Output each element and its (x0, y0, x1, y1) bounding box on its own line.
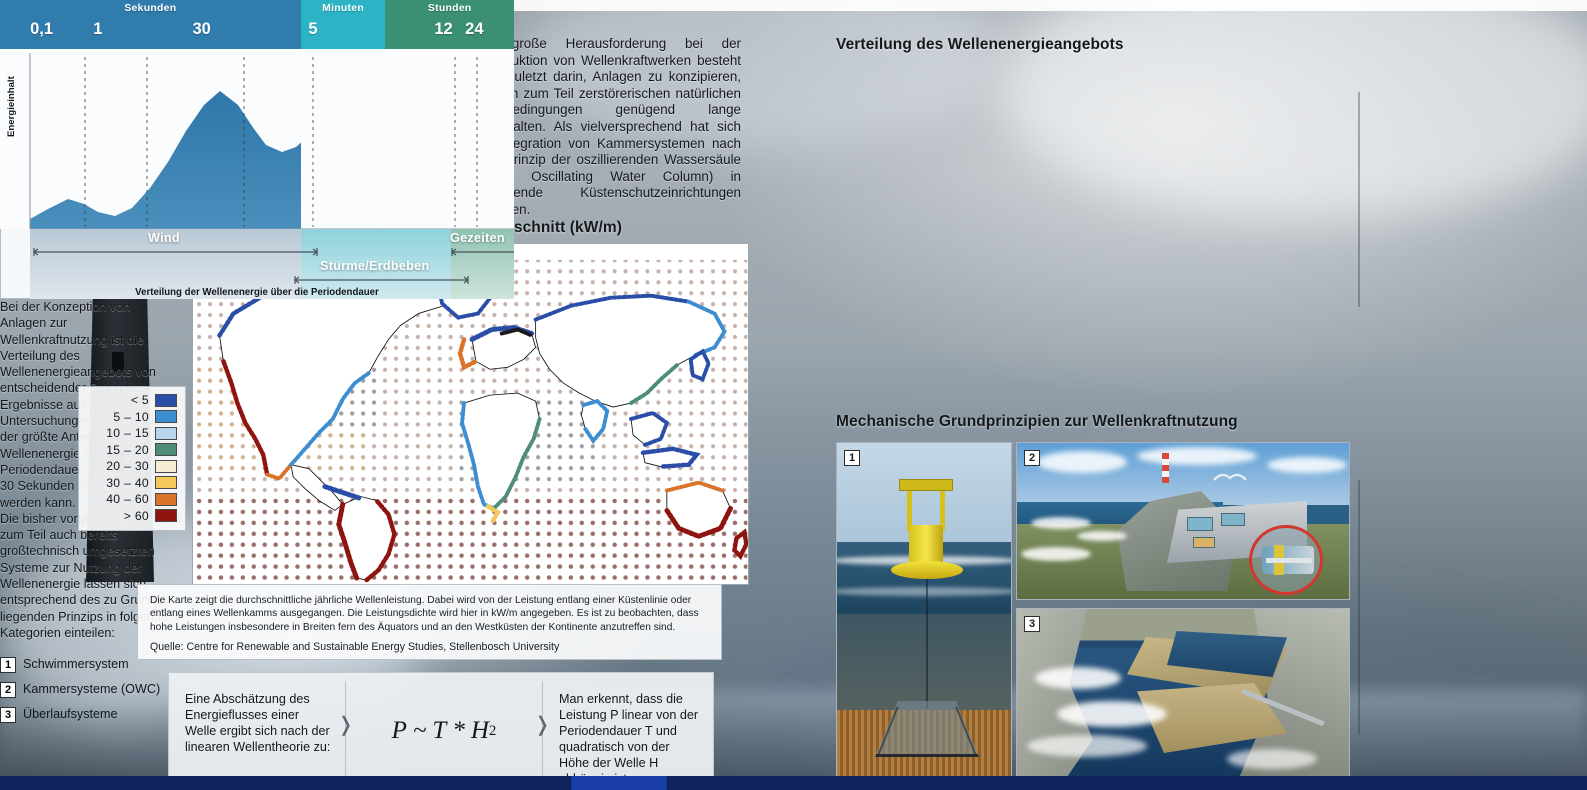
legend-row: > 60 (83, 508, 177, 525)
bottom-bar (0, 776, 1587, 790)
tick-30: 30 (192, 20, 210, 39)
legend-swatch (155, 410, 177, 423)
segment-label-seconds: Sekunden (0, 3, 301, 14)
list-item: 3 Überlaufsysteme (0, 707, 182, 723)
tick-12: 12 (434, 20, 452, 39)
owc-turbine-detail-circle (1249, 525, 1323, 595)
formula-t: T (432, 717, 446, 745)
mech-image-1-buoy[interactable]: 1 (836, 442, 1012, 786)
header-segment-minutes: Minuten 5 (301, 0, 386, 49)
legend-row: 10 – 15 (83, 425, 177, 442)
chevron-right-icon: ❭ (337, 717, 354, 733)
mech-category-list: 1 Schwimmersystem 2 Kammersysteme (OWC) … (0, 657, 182, 723)
legend-label: > 60 (124, 509, 149, 523)
segment-label-hours: Stunden (385, 3, 514, 14)
legend-label: 10 – 15 (106, 426, 149, 440)
legend-row: 20 – 30 (83, 458, 177, 475)
category-number-1: 1 (0, 657, 16, 673)
segment-label-minutes: Minuten (301, 3, 386, 14)
legend-row: 40 – 60 (83, 491, 177, 508)
mech-image-3-overtopping[interactable]: 3 (1016, 608, 1350, 786)
chevron-right-icon-2: ❭ (534, 717, 551, 733)
tick-1: 1 (93, 20, 102, 39)
legend-label: 40 – 60 (106, 492, 149, 506)
tick-5: 5 (308, 20, 317, 39)
mech-panel-number-3: 3 (1024, 616, 1040, 632)
category-number-3: 3 (0, 707, 16, 723)
legend-label: 20 – 30 (106, 459, 149, 473)
formula-p: P (392, 717, 407, 745)
formula-intro-label: Eine Abschätzung des Energieflusses eine… (185, 692, 330, 754)
formula-exponent: 2 (489, 723, 497, 740)
category-label-2: Kammersysteme (OWC) (23, 682, 160, 697)
legend-swatch (155, 509, 177, 522)
mech-panel-number-1: 1 (844, 450, 860, 466)
legend-swatch (155, 493, 177, 506)
chart-period-header: Sekunden 0,1 1 30 Minuten 5 Stunden 12 2… (0, 0, 514, 49)
formula-asterisk: * (452, 717, 465, 745)
category-number-2: 2 (0, 682, 16, 698)
header-segment-seconds: Sekunden 0,1 1 30 (0, 0, 301, 49)
band-label-storms: Stürme/Erdbeben (320, 259, 429, 273)
chart-plot-area: Energieinhalt Wind Stürme/Erdbeben Gezei… (0, 49, 514, 299)
legend-label: 5 – 10 (113, 410, 149, 424)
right-rule-bottom (1358, 480, 1360, 735)
legend-label: 30 – 40 (106, 476, 149, 490)
legend-swatch (155, 476, 177, 489)
chart-y-axis-label: Energieinhalt (6, 76, 17, 137)
legend-swatch (155, 427, 177, 440)
map-legend: < 5 5 – 10 10 – 15 15 – 20 20 – 30 30 – … (78, 386, 186, 531)
formula-intro-text: Eine Abschätzung des Energieflusses eine… (169, 673, 345, 789)
map-source-text: Quelle: Centre for Renewable and Sustain… (150, 641, 709, 653)
wave-energy-spectrum-chart: Sekunden 0,1 1 30 Minuten 5 Stunden 12 2… (0, 0, 514, 299)
wave-power-formula: P ~ T * H 2 (346, 673, 542, 789)
category-label-1: Schwimmersystem (23, 657, 129, 672)
mech-image-2-owc[interactable]: 2 (1016, 442, 1350, 600)
formula-explanation-label: Man erkennt, dass die Leistung P linear … (559, 692, 698, 786)
spectrum-title: Verteilung des Wellenenergieangebots (836, 36, 1124, 54)
legend-label: < 5 (131, 393, 149, 407)
formula-strip: Eine Abschätzung des Energieflusses eine… (168, 672, 714, 790)
map-caption-text: Die Karte zeigt die durchschnittliche jä… (150, 594, 709, 634)
tick-0-1: 0,1 (30, 20, 53, 39)
legend-swatch (155, 394, 177, 407)
mech-panel-number-2: 2 (1024, 450, 1040, 466)
mech-title: Mechanische Grundprinzipien zur Wellenkr… (836, 413, 1238, 431)
list-item: 2 Kammersysteme (OWC) (0, 682, 182, 698)
legend-row: 5 – 10 (83, 409, 177, 426)
tick-24: 24 (465, 20, 483, 39)
band-label-wind: Wind (148, 231, 180, 245)
category-label-3: Überlaufsysteme (23, 707, 118, 722)
legend-row: 15 – 20 (83, 442, 177, 459)
seagull-icon (1213, 471, 1247, 483)
legend-swatch (155, 443, 177, 456)
map-caption-box: Die Karte zeigt die durchschnittliche jä… (137, 584, 722, 660)
formula-explanation-text: ❭ Man erkennt, dass die Leistung P linea… (543, 673, 713, 789)
formula-h: H (471, 717, 489, 745)
formula-tilde: ~ (413, 717, 427, 745)
legend-row: < 5 (83, 392, 177, 409)
band-label-tides: Gezeiten (450, 231, 505, 245)
chart-x-axis-caption: Verteilung der Wellenenergie über die Pe… (0, 287, 514, 298)
right-rule-top (1358, 92, 1360, 307)
legend-row: 30 – 40 (83, 475, 177, 492)
header-segment-hours: Stunden 12 24 (385, 0, 514, 49)
legend-swatch (155, 460, 177, 473)
legend-label: 15 – 20 (106, 443, 149, 457)
